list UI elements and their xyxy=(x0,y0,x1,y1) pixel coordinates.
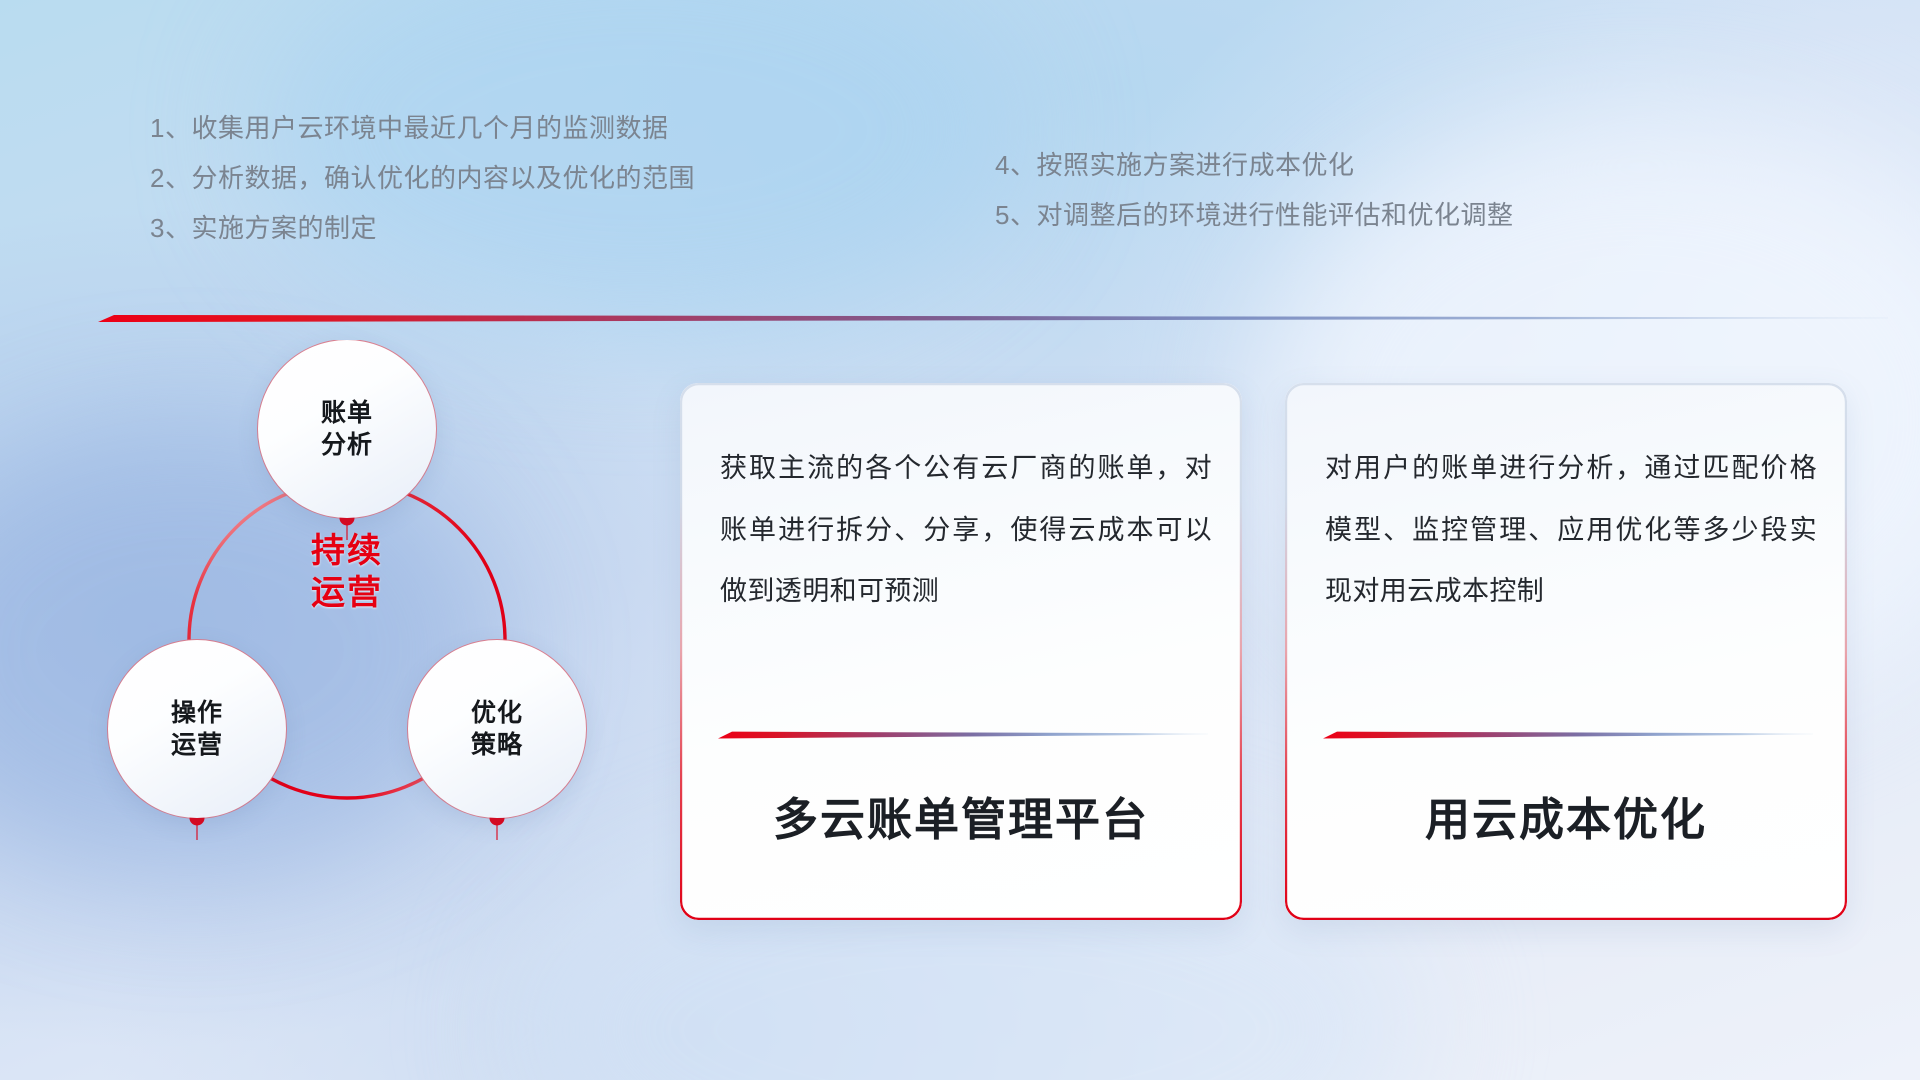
steps-left-column: 1、收集用户云环境中最近几个月的监测数据 2、分析数据，确认优化的内容以及优化的… xyxy=(150,115,695,241)
header-divider xyxy=(98,312,1888,324)
diagram-center-label: 持续 运营 xyxy=(258,530,436,614)
diagram-node-optimization-strategy[interactable]: 优化 策略 xyxy=(408,640,586,818)
diagram-node-operations[interactable]: 操作 运营 xyxy=(108,640,286,818)
card-1-divider xyxy=(718,729,1208,740)
diagram-node-operations-line2: 运营 xyxy=(171,729,223,761)
diagram-node-operations-line1: 操作 xyxy=(171,697,223,729)
diagram-node-bill-analysis[interactable]: 账单 分析 xyxy=(258,340,436,518)
step-item-5: 5、对调整后的环境进行性能评估和优化调整 xyxy=(995,202,1513,228)
step-item-4: 4、按照实施方案进行成本优化 xyxy=(995,152,1513,178)
card-1-title: 多云账单管理平台 xyxy=(680,783,1242,848)
diagram-node-optimization-strategy-line2: 策略 xyxy=(471,729,523,761)
slide-canvas: 1、收集用户云环境中最近几个月的监测数据 2、分析数据，确认优化的内容以及优化的… xyxy=(0,0,1920,1080)
diagram-center-label-line1: 持续 xyxy=(258,530,436,572)
diagram-node-optimization-strategy-line1: 优化 xyxy=(471,697,523,729)
steps-right-column: 4、按照实施方案进行成本优化 5、对调整后的环境进行性能评估和优化调整 xyxy=(995,152,1513,228)
continuous-operation-diagram: 账单 分析 操作 运营 优化 策略 持续 运营 xyxy=(80,340,680,940)
diagram-node-bill-analysis-line2: 分析 xyxy=(321,429,373,461)
diagram-node-bill-analysis-line1: 账单 xyxy=(321,397,373,429)
card-2-title: 用云成本优化 xyxy=(1285,783,1847,848)
step-item-2: 2、分析数据，确认优化的内容以及优化的范围 xyxy=(150,165,695,191)
step-item-3: 3、实施方案的制定 xyxy=(150,215,695,241)
card-2-body: 对用户的账单进行分析，通过匹配价格模型、监控管理、应用优化等多少段实现对用云成本… xyxy=(1325,438,1817,623)
diagram-center-label-line2: 运营 xyxy=(258,572,436,614)
card-1-body: 获取主流的各个公有云厂商的账单，对账单进行拆分、分享，使得云成本可以做到透明和可… xyxy=(720,438,1212,623)
card-cloud-cost-optimization[interactable]: 对用户的账单进行分析，通过匹配价格模型、监控管理、应用优化等多少段实现对用云成本… xyxy=(1285,383,1847,920)
card-2-divider xyxy=(1323,729,1813,740)
step-item-1: 1、收集用户云环境中最近几个月的监测数据 xyxy=(150,115,695,141)
card-multicloud-billing-platform[interactable]: 获取主流的各个公有云厂商的账单，对账单进行拆分、分享，使得云成本可以做到透明和可… xyxy=(680,383,1242,920)
